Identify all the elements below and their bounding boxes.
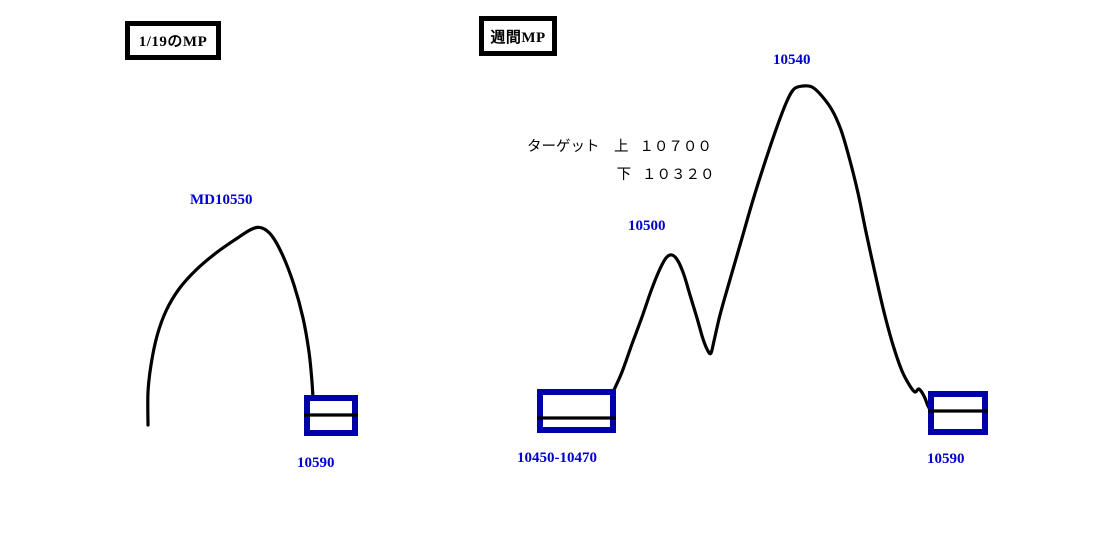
chart-drawing-layer (0, 0, 1104, 536)
right-chart-right-range-box (931, 394, 985, 432)
left-chart-profile-curve (148, 227, 313, 425)
screenshot-canvas: 1/19のMP 週間MP ターゲット 上 １０７００ 下 １０３２０ MD105… (0, 0, 1104, 536)
right-chart-profile-curve (613, 86, 931, 411)
right-chart-left-range-box (540, 392, 613, 430)
